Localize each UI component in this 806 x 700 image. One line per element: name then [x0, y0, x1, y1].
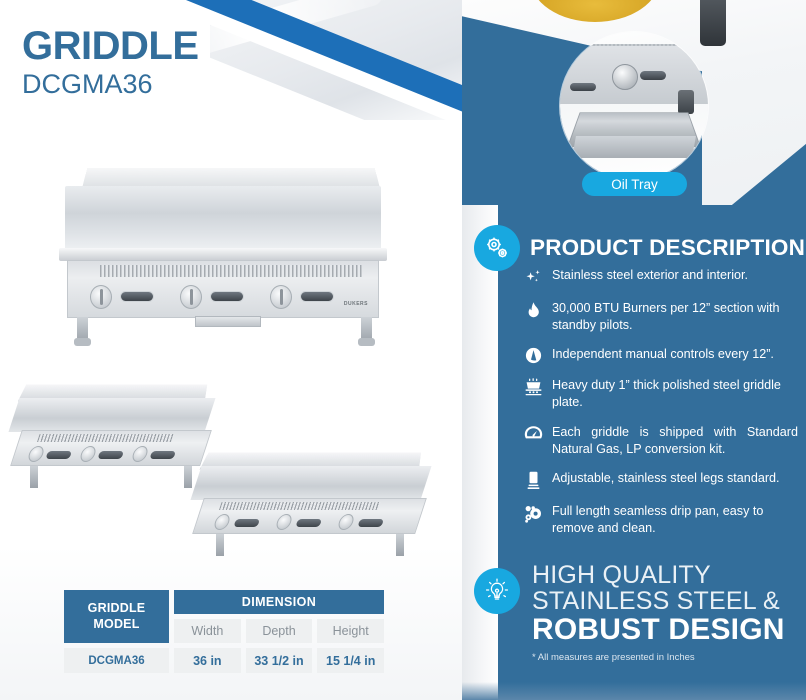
- drip-pan-icon: [524, 503, 543, 523]
- burner-pill: [300, 291, 334, 302]
- griddle-model-header-line2: MODEL: [88, 617, 146, 633]
- feature-text: 30,000 BTU Burners per 12” section with …: [552, 300, 798, 333]
- griddle-body: DUKERS: [67, 260, 379, 318]
- griddle-leg: [678, 90, 694, 114]
- fries-photo: [530, 0, 660, 22]
- griddle-leg: [184, 466, 192, 488]
- control-knob-icon: [524, 346, 543, 364]
- burner-pill: [45, 451, 72, 459]
- leg-icon: [524, 470, 543, 490]
- feature-text: Each griddle is shipped with Standard Na…: [552, 424, 798, 457]
- burner-pill: [295, 519, 322, 527]
- feature-list: Stainless steel exterior and interior. 3…: [524, 267, 798, 550]
- sparkle-icon: [524, 267, 543, 287]
- control-knob: [130, 446, 149, 462]
- drip-pan: [195, 316, 261, 327]
- control-knob: [336, 514, 355, 530]
- feature-text: Stainless steel exterior and interior.: [552, 267, 798, 284]
- gears-icon: [474, 225, 520, 271]
- griddle-leg: [361, 317, 372, 343]
- spec-sheet: GRIDDLE DCGMA36 DUKERS: [0, 0, 806, 700]
- griddle-plate: [8, 398, 215, 432]
- brand-mark: DUKERS: [344, 301, 368, 307]
- description-header: PRODUCT DESCRIPTION: [510, 225, 805, 271]
- feature-item: 30,000 BTU Burners per 12” section with …: [524, 300, 798, 333]
- griddle-leg-photo: [700, 0, 726, 46]
- oil-tray-closeup-icon: [560, 32, 708, 180]
- control-knob: [212, 514, 231, 530]
- griddle-plate-icon: [524, 377, 543, 397]
- control-knob: [274, 514, 293, 530]
- griddle-angled-left: [14, 384, 210, 492]
- oil-tray-photo-area: Oil Tray: [462, 0, 806, 215]
- griddle-angled-right: [196, 452, 426, 572]
- page-title: GRIDDLE DCGMA36: [22, 26, 199, 102]
- feature-item: Stainless steel exterior and interior.: [524, 267, 798, 287]
- description-title: PRODUCT DESCRIPTION: [530, 235, 805, 261]
- panel-edge-gradient: [462, 205, 498, 700]
- feature-text: Heavy duty 1” thick polished steel gridd…: [552, 377, 798, 410]
- oil-tray-badge: Oil Tray: [582, 172, 687, 196]
- dimension-table: GRIDDLE MODEL DIMENSION Width Depth Heig…: [64, 590, 384, 678]
- right-panel: Oil Tray: [462, 0, 806, 700]
- secondary-product-images: [0, 378, 440, 578]
- feature-item: Adjustable, stainless steel legs standar…: [524, 470, 798, 490]
- burner-pill: [120, 291, 154, 302]
- left-panel: GRIDDLE DCGMA36 DUKERS: [0, 0, 462, 700]
- dimension-header: DIMENSION: [174, 590, 384, 614]
- griddle-plate: [190, 466, 431, 500]
- feature-item: Independent manual controls every 12”.: [524, 346, 798, 364]
- oil-tray-front: [572, 136, 696, 158]
- cell-height: 15 1/4 in: [317, 648, 384, 673]
- control-knob: [270, 285, 292, 309]
- gauge-icon: [524, 424, 543, 440]
- burner-pill: [570, 83, 596, 91]
- table-subheader-row: Width Depth Height: [174, 619, 384, 643]
- column-header-width: Width: [174, 619, 241, 643]
- cell-width: 36 in: [174, 648, 241, 673]
- lightbulb-icon: [474, 568, 520, 614]
- griddle-plate: [65, 186, 381, 254]
- burner-pill: [357, 519, 384, 527]
- description-panel: PRODUCT DESCRIPTION Stainless steel exte…: [462, 205, 806, 700]
- griddle-leg: [216, 534, 224, 556]
- footer-gradient: [462, 682, 806, 700]
- table-header-row: GRIDDLE MODEL DIMENSION Width Depth Heig…: [64, 590, 384, 643]
- column-header-depth: Depth: [246, 619, 313, 643]
- burner-pill: [210, 291, 244, 302]
- feature-item: Heavy duty 1” thick polished steel gridd…: [524, 377, 798, 410]
- griddle-body: [10, 430, 212, 466]
- burner-pill: [149, 451, 176, 459]
- control-knob: [78, 446, 97, 462]
- tagline-line3: ROBUST DESIGN: [532, 614, 806, 646]
- control-knob: [612, 64, 638, 90]
- measures-note: * All measures are presented in Inches: [532, 652, 806, 663]
- griddle-body: [192, 498, 427, 534]
- feature-text: Adjustable, stainless steel legs standar…: [552, 470, 798, 487]
- cell-model: DCGMA36: [64, 648, 169, 673]
- tagline-line1: HIGH QUALITY: [532, 562, 806, 588]
- burner-pill: [97, 451, 124, 459]
- feature-text: Full length seamless drip pan, easy to r…: [552, 503, 798, 536]
- feature-text: Independent manual controls every 12”.: [552, 346, 798, 363]
- cell-depth: 33 1/2 in: [246, 648, 313, 673]
- griddle-leg: [396, 534, 404, 556]
- griddle-model-header-line1: GRIDDLE: [88, 601, 146, 617]
- feature-item: Full length seamless drip pan, easy to r…: [524, 503, 798, 536]
- table-row: DCGMA36 36 in 33 1/2 in 15 1/4 in: [64, 648, 384, 673]
- control-knob: [26, 446, 45, 462]
- tagline-text: HIGH QUALITY STAINLESS STEEL & ROBUST DE…: [532, 562, 806, 663]
- griddle-vents: [219, 502, 381, 510]
- title-main: GRIDDLE: [22, 26, 199, 66]
- burner-pill: [233, 519, 260, 527]
- feature-item: Each griddle is shipped with Standard Na…: [524, 424, 798, 457]
- griddle-leg: [30, 466, 38, 488]
- tagline-line2: STAINLESS STEEL &: [532, 588, 806, 614]
- flame-icon: [524, 300, 543, 320]
- griddle-model-header: GRIDDLE MODEL: [64, 590, 169, 643]
- griddle-vents: [100, 265, 362, 277]
- hero-product-image: DUKERS: [55, 150, 395, 355]
- griddle-vents: [37, 434, 175, 442]
- title-model: DCGMA36: [22, 68, 199, 102]
- control-knob: [180, 285, 202, 309]
- griddle-leg: [77, 317, 88, 343]
- burner-pill: [640, 71, 666, 80]
- control-knob: [90, 285, 112, 309]
- column-header-height: Height: [317, 619, 384, 643]
